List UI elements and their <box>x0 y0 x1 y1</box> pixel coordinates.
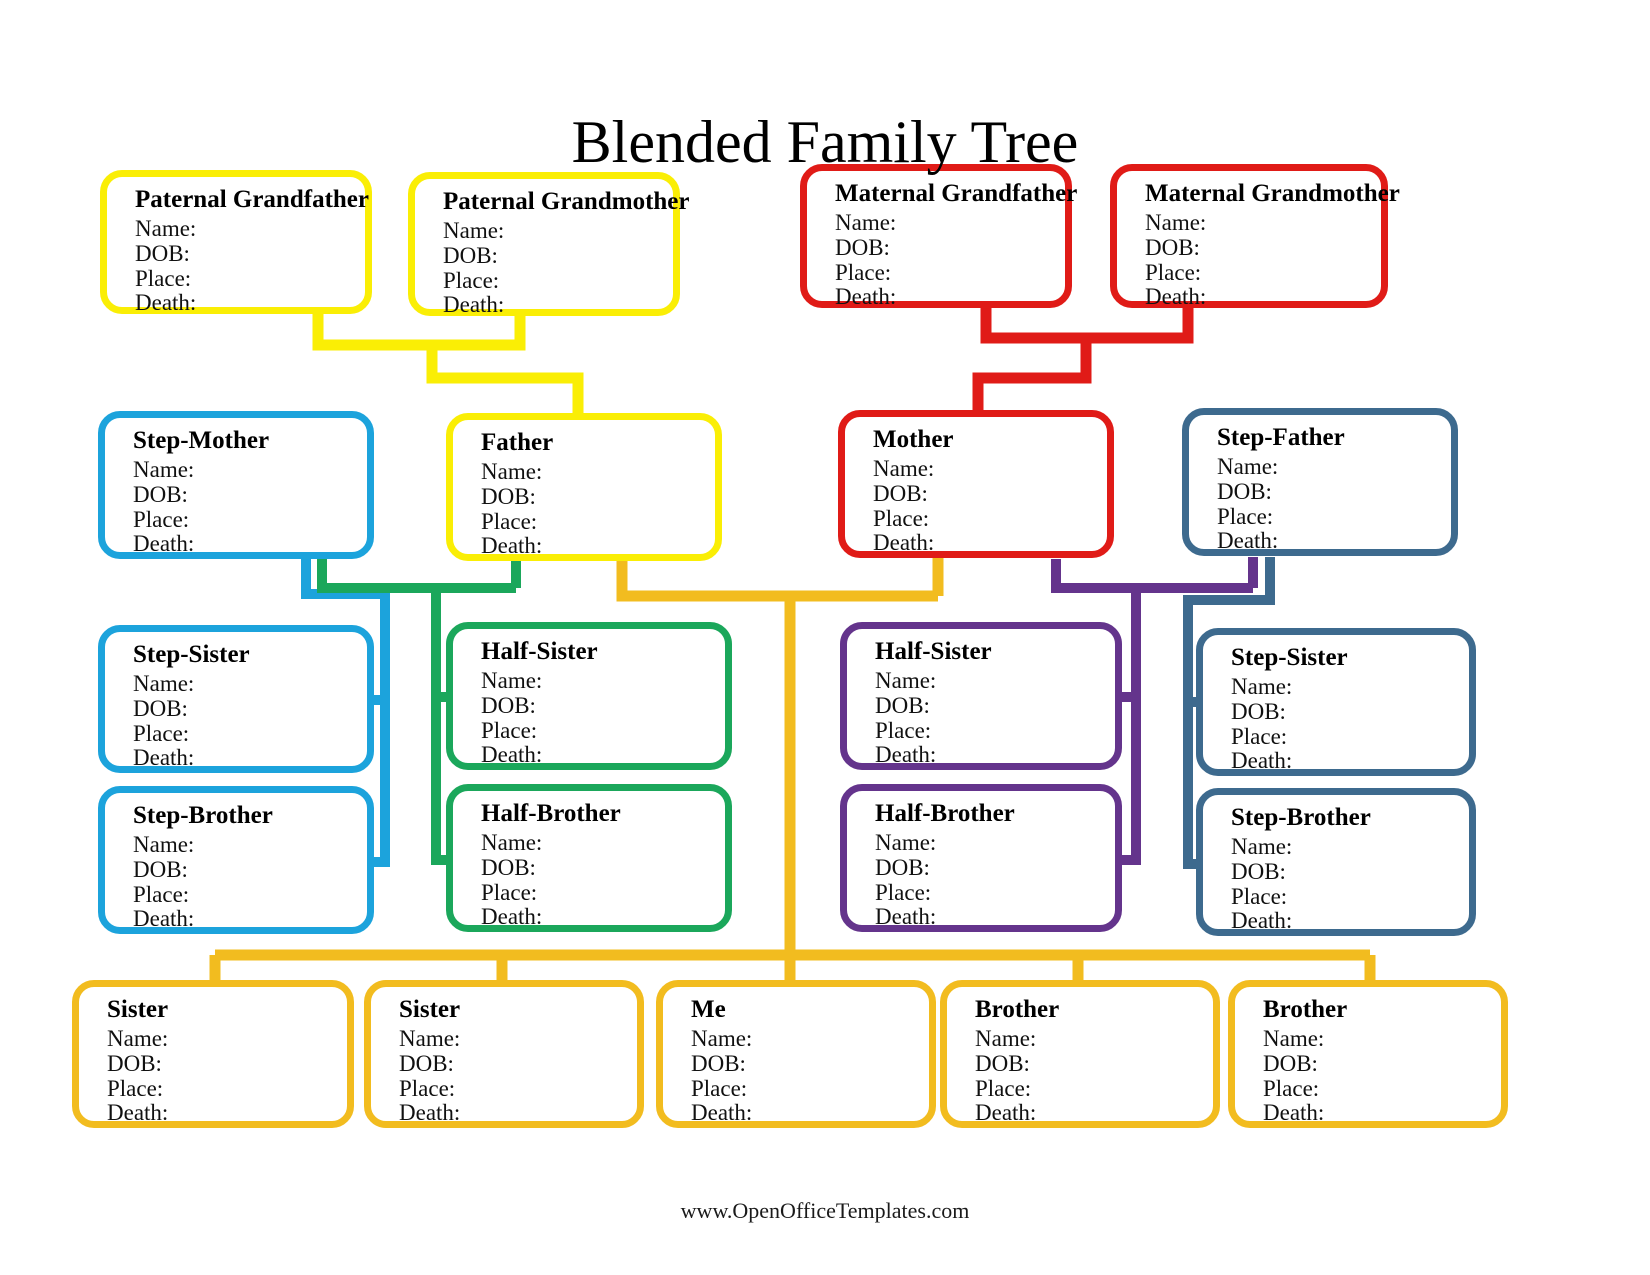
field-dob: DOB: <box>133 697 367 722</box>
field-death: Death: <box>481 905 725 930</box>
field-dob: DOB: <box>481 694 725 719</box>
family-tree-page: Blended Family Tree <box>0 0 1650 1275</box>
field-place: Place: <box>481 881 725 906</box>
card-fields: Name: DOB: Place: Death: <box>875 669 1115 768</box>
card-title: Step-Mother <box>133 428 367 453</box>
field-name: Name: <box>1217 455 1451 480</box>
card-title: Mother <box>873 427 1107 452</box>
field-name: Name: <box>1231 675 1469 700</box>
card-step-sister-right[interactable]: Step-Sister Name: DOB: Place: Death: <box>1196 628 1476 776</box>
card-fields: Name: DOB: Place: Death: <box>481 669 725 768</box>
field-death: Death: <box>133 907 367 932</box>
card-title: Step-Sister <box>1231 645 1469 670</box>
card-title: Paternal Grandmother <box>443 189 673 214</box>
field-place: Place: <box>399 1077 637 1102</box>
card-title: Paternal Grandfather <box>135 187 365 212</box>
field-name: Name: <box>107 1027 347 1052</box>
card-fields: Name: DOB: Place: Death: <box>875 831 1115 930</box>
field-death: Death: <box>133 746 367 771</box>
card-title: Step-Sister <box>133 642 367 667</box>
field-place: Place: <box>481 719 725 744</box>
card-title: Brother <box>1263 997 1501 1022</box>
field-dob: DOB: <box>481 856 725 881</box>
field-death: Death: <box>481 534 715 559</box>
card-title: Sister <box>399 997 637 1022</box>
field-name: Name: <box>835 211 1065 236</box>
field-name: Name: <box>481 831 725 856</box>
field-dob: DOB: <box>691 1052 929 1077</box>
card-fields: Name: DOB: Place: Death: <box>399 1027 637 1126</box>
field-death: Death: <box>399 1101 637 1126</box>
field-dob: DOB: <box>481 485 715 510</box>
card-title: Me <box>691 997 929 1022</box>
field-death: Death: <box>875 743 1115 768</box>
footer-url: www.OpenOfficeTemplates.com <box>0 1198 1650 1224</box>
field-name: Name: <box>399 1027 637 1052</box>
field-death: Death: <box>1263 1101 1501 1126</box>
field-dob: DOB: <box>107 1052 347 1077</box>
field-place: Place: <box>133 883 367 908</box>
field-dob: DOB: <box>133 483 367 508</box>
field-name: Name: <box>875 669 1115 694</box>
connector-paternal-yellow <box>318 314 578 413</box>
field-dob: DOB: <box>975 1052 1213 1077</box>
card-fields: Name: DOB: Place: Death: <box>133 833 367 932</box>
card-title: Sister <box>107 997 347 1022</box>
field-place: Place: <box>691 1077 929 1102</box>
field-name: Name: <box>873 457 1107 482</box>
field-death: Death: <box>873 531 1107 556</box>
field-place: Place: <box>875 719 1115 744</box>
card-fields: Name: DOB: Place: Death: <box>1231 835 1469 934</box>
card-fields: Name: DOB: Place: Death: <box>975 1027 1213 1126</box>
field-death: Death: <box>481 743 725 768</box>
field-dob: DOB: <box>875 856 1115 881</box>
field-death: Death: <box>975 1101 1213 1126</box>
field-name: Name: <box>133 458 367 483</box>
field-dob: DOB: <box>1231 860 1469 885</box>
card-fields: Name: DOB: Place: Death: <box>1145 211 1381 310</box>
card-maternal-grandmother[interactable]: Maternal Grandmother Name: DOB: Place: D… <box>1110 164 1388 308</box>
field-name: Name: <box>1231 835 1469 860</box>
card-half-brother-left[interactable]: Half-Brother Name: DOB: Place: Death: <box>446 784 732 932</box>
field-place: Place: <box>481 510 715 535</box>
card-title: Half-Brother <box>875 801 1115 826</box>
field-place: Place: <box>975 1077 1213 1102</box>
field-name: Name: <box>443 219 673 244</box>
field-place: Place: <box>107 1077 347 1102</box>
card-half-brother-right[interactable]: Half-Brother Name: DOB: Place: Death: <box>840 784 1122 932</box>
field-dob: DOB: <box>873 482 1107 507</box>
card-title: Maternal Grandmother <box>1145 181 1381 206</box>
field-death: Death: <box>135 291 365 316</box>
field-name: Name: <box>1145 211 1381 236</box>
card-sister-1[interactable]: Sister Name: DOB: Place: Death: <box>72 980 354 1128</box>
card-title: Step-Brother <box>1231 805 1469 830</box>
field-name: Name: <box>135 217 365 242</box>
field-place: Place: <box>1217 505 1451 530</box>
card-step-father[interactable]: Step-Father Name: DOB: Place: Death: <box>1182 408 1458 556</box>
card-fields: Name: DOB: Place: Death: <box>1231 675 1469 774</box>
field-death: Death: <box>835 285 1065 310</box>
card-title: Half-Sister <box>875 639 1115 664</box>
card-fields: Name: DOB: Place: Death: <box>481 831 725 930</box>
field-place: Place: <box>133 508 367 533</box>
card-title: Father <box>481 430 715 455</box>
card-father[interactable]: Father Name: DOB: Place: Death: <box>446 413 722 561</box>
field-place: Place: <box>873 507 1107 532</box>
field-death: Death: <box>1231 909 1469 934</box>
card-title: Step-Brother <box>133 803 367 828</box>
field-name: Name: <box>481 460 715 485</box>
field-death: Death: <box>875 905 1115 930</box>
card-me[interactable]: Me Name: DOB: Place: Death: <box>656 980 936 1128</box>
field-name: Name: <box>975 1027 1213 1052</box>
field-name: Name: <box>875 831 1115 856</box>
card-fields: Name: DOB: Place: Death: <box>691 1027 929 1126</box>
card-fields: Name: DOB: Place: Death: <box>481 460 715 559</box>
card-title: Half-Brother <box>481 801 725 826</box>
field-name: Name: <box>481 669 725 694</box>
field-name: Name: <box>133 672 367 697</box>
field-name: Name: <box>1263 1027 1501 1052</box>
card-fields: Name: DOB: Place: Death: <box>133 672 367 771</box>
card-fields: Name: DOB: Place: Death: <box>135 217 365 316</box>
field-dob: DOB: <box>1231 700 1469 725</box>
card-fields: Name: DOB: Place: Death: <box>1217 455 1451 554</box>
field-death: Death: <box>443 293 673 318</box>
card-fields: Name: DOB: Place: Death: <box>835 211 1065 310</box>
field-place: Place: <box>135 267 365 292</box>
card-step-brother-left[interactable]: Step-Brother Name: DOB: Place: Death: <box>98 786 374 934</box>
card-brother-1[interactable]: Brother Name: DOB: Place: Death: <box>940 980 1220 1128</box>
field-place: Place: <box>835 261 1065 286</box>
field-death: Death: <box>1231 749 1469 774</box>
field-place: Place: <box>133 722 367 747</box>
field-dob: DOB: <box>399 1052 637 1077</box>
card-step-brother-right[interactable]: Step-Brother Name: DOB: Place: Death: <box>1196 788 1476 936</box>
card-title: Maternal Grandfather <box>835 181 1065 206</box>
card-title: Step-Father <box>1217 425 1451 450</box>
card-fields: Name: DOB: Place: Death: <box>1263 1027 1501 1126</box>
field-place: Place: <box>1231 725 1469 750</box>
card-sister-2[interactable]: Sister Name: DOB: Place: Death: <box>364 980 644 1128</box>
field-death: Death: <box>107 1101 347 1126</box>
field-dob: DOB: <box>1263 1052 1501 1077</box>
card-title: Half-Sister <box>481 639 725 664</box>
field-dob: DOB: <box>133 858 367 883</box>
field-dob: DOB: <box>1145 236 1381 261</box>
field-dob: DOB: <box>875 694 1115 719</box>
field-dob: DOB: <box>1217 480 1451 505</box>
field-name: Name: <box>133 833 367 858</box>
card-half-sister-left[interactable]: Half-Sister Name: DOB: Place: Death: <box>446 622 732 770</box>
card-step-mother[interactable]: Step-Mother Name: DOB: Place: Death: <box>98 411 374 559</box>
card-mother[interactable]: Mother Name: DOB: Place: Death: <box>838 410 1114 558</box>
field-dob: DOB: <box>135 242 365 267</box>
field-dob: DOB: <box>443 244 673 269</box>
card-step-sister-left[interactable]: Step-Sister Name: DOB: Place: Death: <box>98 625 374 773</box>
card-fields: Name: DOB: Place: Death: <box>873 457 1107 556</box>
field-place: Place: <box>875 881 1115 906</box>
card-half-sister-right[interactable]: Half-Sister Name: DOB: Place: Death: <box>840 622 1122 770</box>
connector-maternal-red <box>978 308 1188 410</box>
page-title: Blended Family Tree <box>0 108 1650 177</box>
card-paternal-grandmother[interactable]: Paternal Grandmother Name: DOB: Place: D… <box>408 172 680 316</box>
card-title: Brother <box>975 997 1213 1022</box>
card-fields: Name: DOB: Place: Death: <box>443 219 673 318</box>
card-paternal-grandfather[interactable]: Paternal Grandfather Name: DOB: Place: D… <box>100 170 372 314</box>
card-fields: Name: DOB: Place: Death: <box>107 1027 347 1126</box>
field-death: Death: <box>133 532 367 557</box>
field-place: Place: <box>1231 885 1469 910</box>
field-death: Death: <box>1217 529 1451 554</box>
field-death: Death: <box>691 1101 929 1126</box>
field-place: Place: <box>1145 261 1381 286</box>
field-dob: DOB: <box>835 236 1065 261</box>
card-fields: Name: DOB: Place: Death: <box>133 458 367 557</box>
field-place: Place: <box>1263 1077 1501 1102</box>
card-maternal-grandfather[interactable]: Maternal Grandfather Name: DOB: Place: D… <box>800 164 1072 308</box>
field-death: Death: <box>1145 285 1381 310</box>
field-name: Name: <box>691 1027 929 1052</box>
card-brother-2[interactable]: Brother Name: DOB: Place: Death: <box>1228 980 1508 1128</box>
field-place: Place: <box>443 269 673 294</box>
